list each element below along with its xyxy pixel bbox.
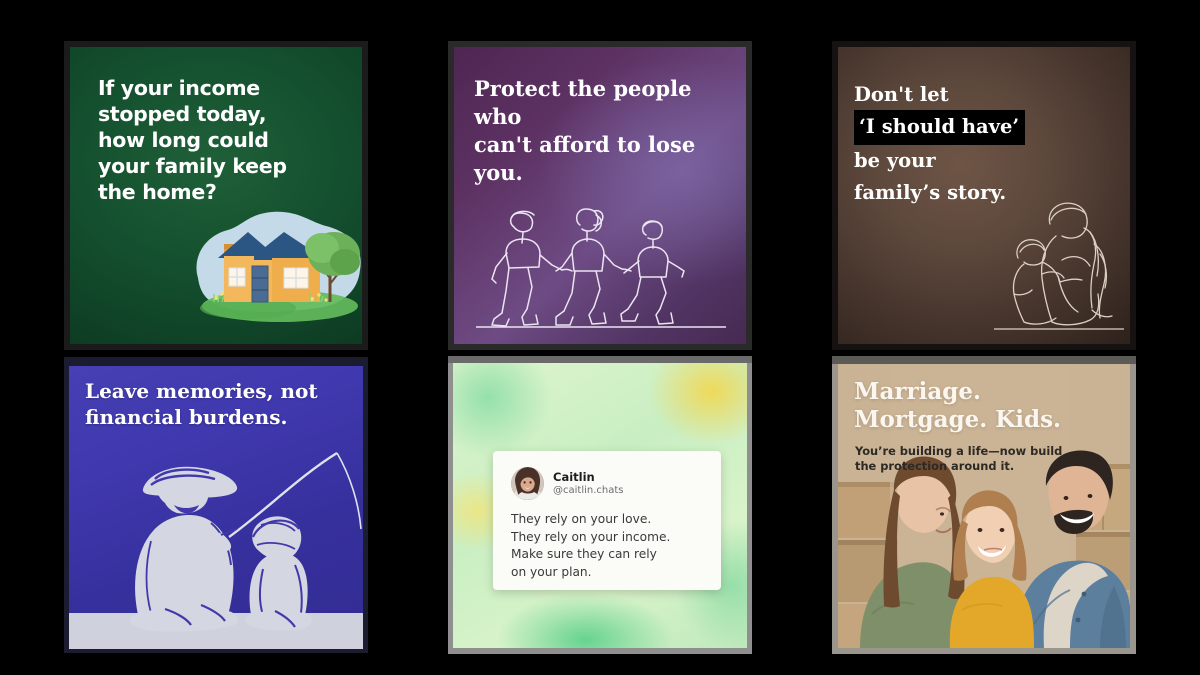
creative-grid: If your income stopped today, how long c… bbox=[0, 0, 1200, 675]
card-top-bar bbox=[832, 356, 1136, 364]
card-canvas: If your income stopped today, how long c… bbox=[70, 47, 362, 344]
card-canvas: Caitlin @caitlin.chats They rely on your… bbox=[453, 363, 747, 648]
card-headline: Don't let ‘I should have’ be your family… bbox=[854, 79, 1124, 208]
card-canvas: Don't let ‘I should have’ be your family… bbox=[838, 47, 1130, 344]
card-subhead: You’re building a life—now build the pro… bbox=[855, 444, 1070, 475]
creative-card-leave-memories[interactable]: Leave memories, not financial burdens. bbox=[64, 357, 368, 653]
card-headline: Protect the people who can't afford to l… bbox=[474, 75, 738, 187]
headline-line-3: be your bbox=[854, 145, 1124, 176]
testimonial-name: Caitlin bbox=[553, 470, 624, 484]
fishing-silhouette bbox=[69, 419, 363, 649]
creative-card-income-home[interactable]: If your income stopped today, how long c… bbox=[64, 41, 368, 350]
creative-card-protect-people[interactable]: Protect the people who can't afford to l… bbox=[448, 41, 752, 350]
creative-card-testimonial[interactable]: Caitlin @caitlin.chats They rely on your… bbox=[448, 356, 752, 654]
house-illustration bbox=[188, 200, 362, 340]
card-canvas: Leave memories, not financial burdens. bbox=[69, 366, 363, 649]
mother-children-hug-line-art bbox=[994, 198, 1124, 338]
headline-line-1: Don't let bbox=[854, 79, 1124, 110]
card-headline: Marriage. Mortgage. Kids. bbox=[854, 378, 1114, 434]
running-family-line-art bbox=[476, 195, 726, 335]
testimonial-handle: @caitlin.chats bbox=[553, 484, 624, 497]
avatar bbox=[511, 467, 544, 500]
testimonial-body: They rely on your love. They rely on you… bbox=[511, 511, 703, 582]
testimonial-card[interactable]: Caitlin @caitlin.chats They rely on your… bbox=[493, 451, 721, 590]
testimonial-identity: Caitlin @caitlin.chats bbox=[553, 470, 624, 497]
testimonial-header: Caitlin @caitlin.chats bbox=[511, 467, 703, 500]
creative-card-marriage-mortgage-kids[interactable]: Marriage. Mortgage. Kids. You’re buildin… bbox=[832, 356, 1136, 654]
card-headline: If your income stopped today, how long c… bbox=[98, 75, 338, 205]
headline-highlight: ‘I should have’ bbox=[854, 110, 1025, 145]
card-canvas: Marriage. Mortgage. Kids. You’re buildin… bbox=[838, 364, 1130, 648]
creative-card-should-have[interactable]: Don't let ‘I should have’ be your family… bbox=[832, 41, 1136, 350]
card-canvas: Protect the people who can't afford to l… bbox=[454, 47, 746, 344]
card-headline: Leave memories, not financial burdens. bbox=[85, 378, 361, 430]
card-top-bar bbox=[448, 356, 752, 363]
